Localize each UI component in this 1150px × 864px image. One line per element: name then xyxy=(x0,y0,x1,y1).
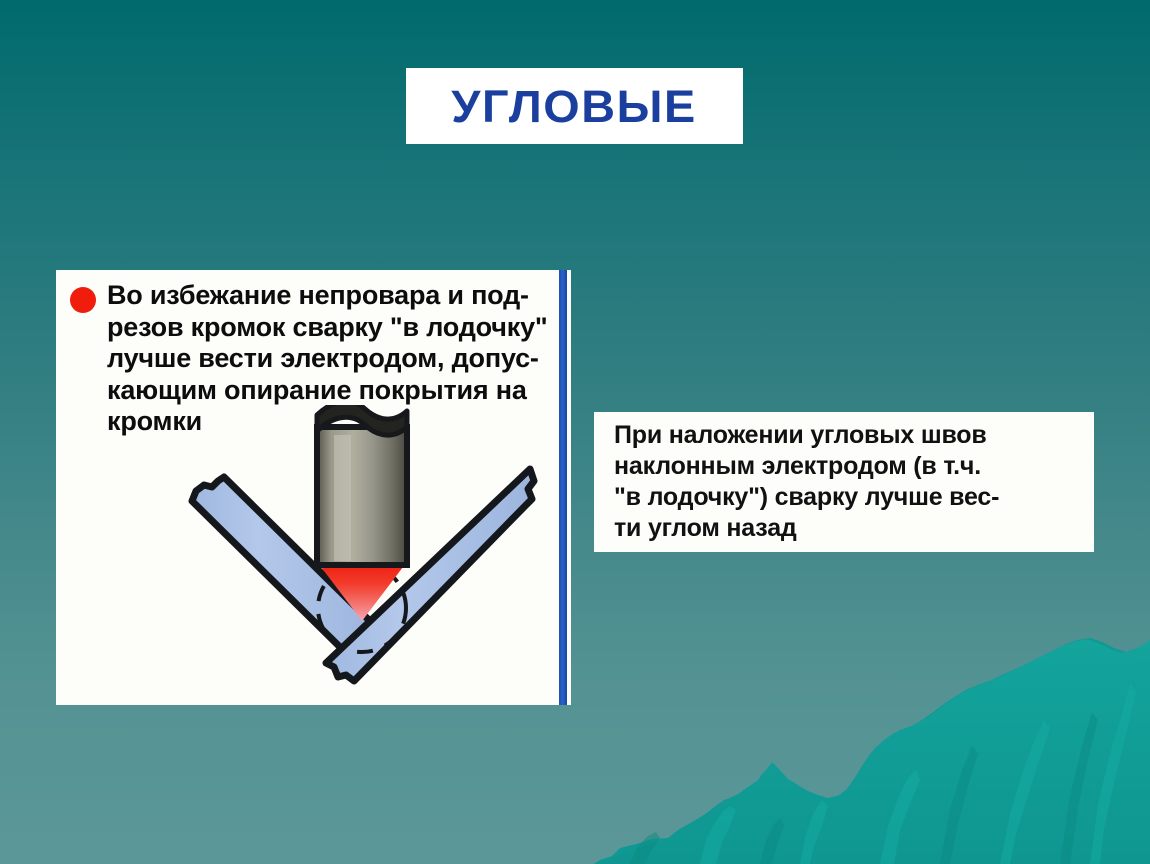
right-text-panel: При наложении угловых швов наклонным эле… xyxy=(594,412,1094,552)
left-illustration-card: Во избежание непровара и под- резов кром… xyxy=(56,270,571,705)
slide: УГЛОВЫЕ Во избежание непровара и под- ре… xyxy=(0,0,1150,864)
card-accent-stripe xyxy=(559,270,567,705)
welding-diagram xyxy=(166,405,556,700)
red-bullet-icon xyxy=(70,287,96,313)
mountain-back-ridge xyxy=(594,638,1150,864)
title-box: УГЛОВЫЕ xyxy=(406,68,743,144)
electrode xyxy=(317,405,407,565)
electrode-highlight xyxy=(334,435,351,561)
mountain-front-ridge xyxy=(594,639,1150,864)
page-title: УГЛОВЫЕ xyxy=(452,84,697,129)
mountain-shadow-streaks xyxy=(630,712,1098,864)
right-panel-paragraph: При наложении угловых швов наклонным эле… xyxy=(594,420,1013,544)
mountain-highlight-streaks xyxy=(700,684,1136,864)
